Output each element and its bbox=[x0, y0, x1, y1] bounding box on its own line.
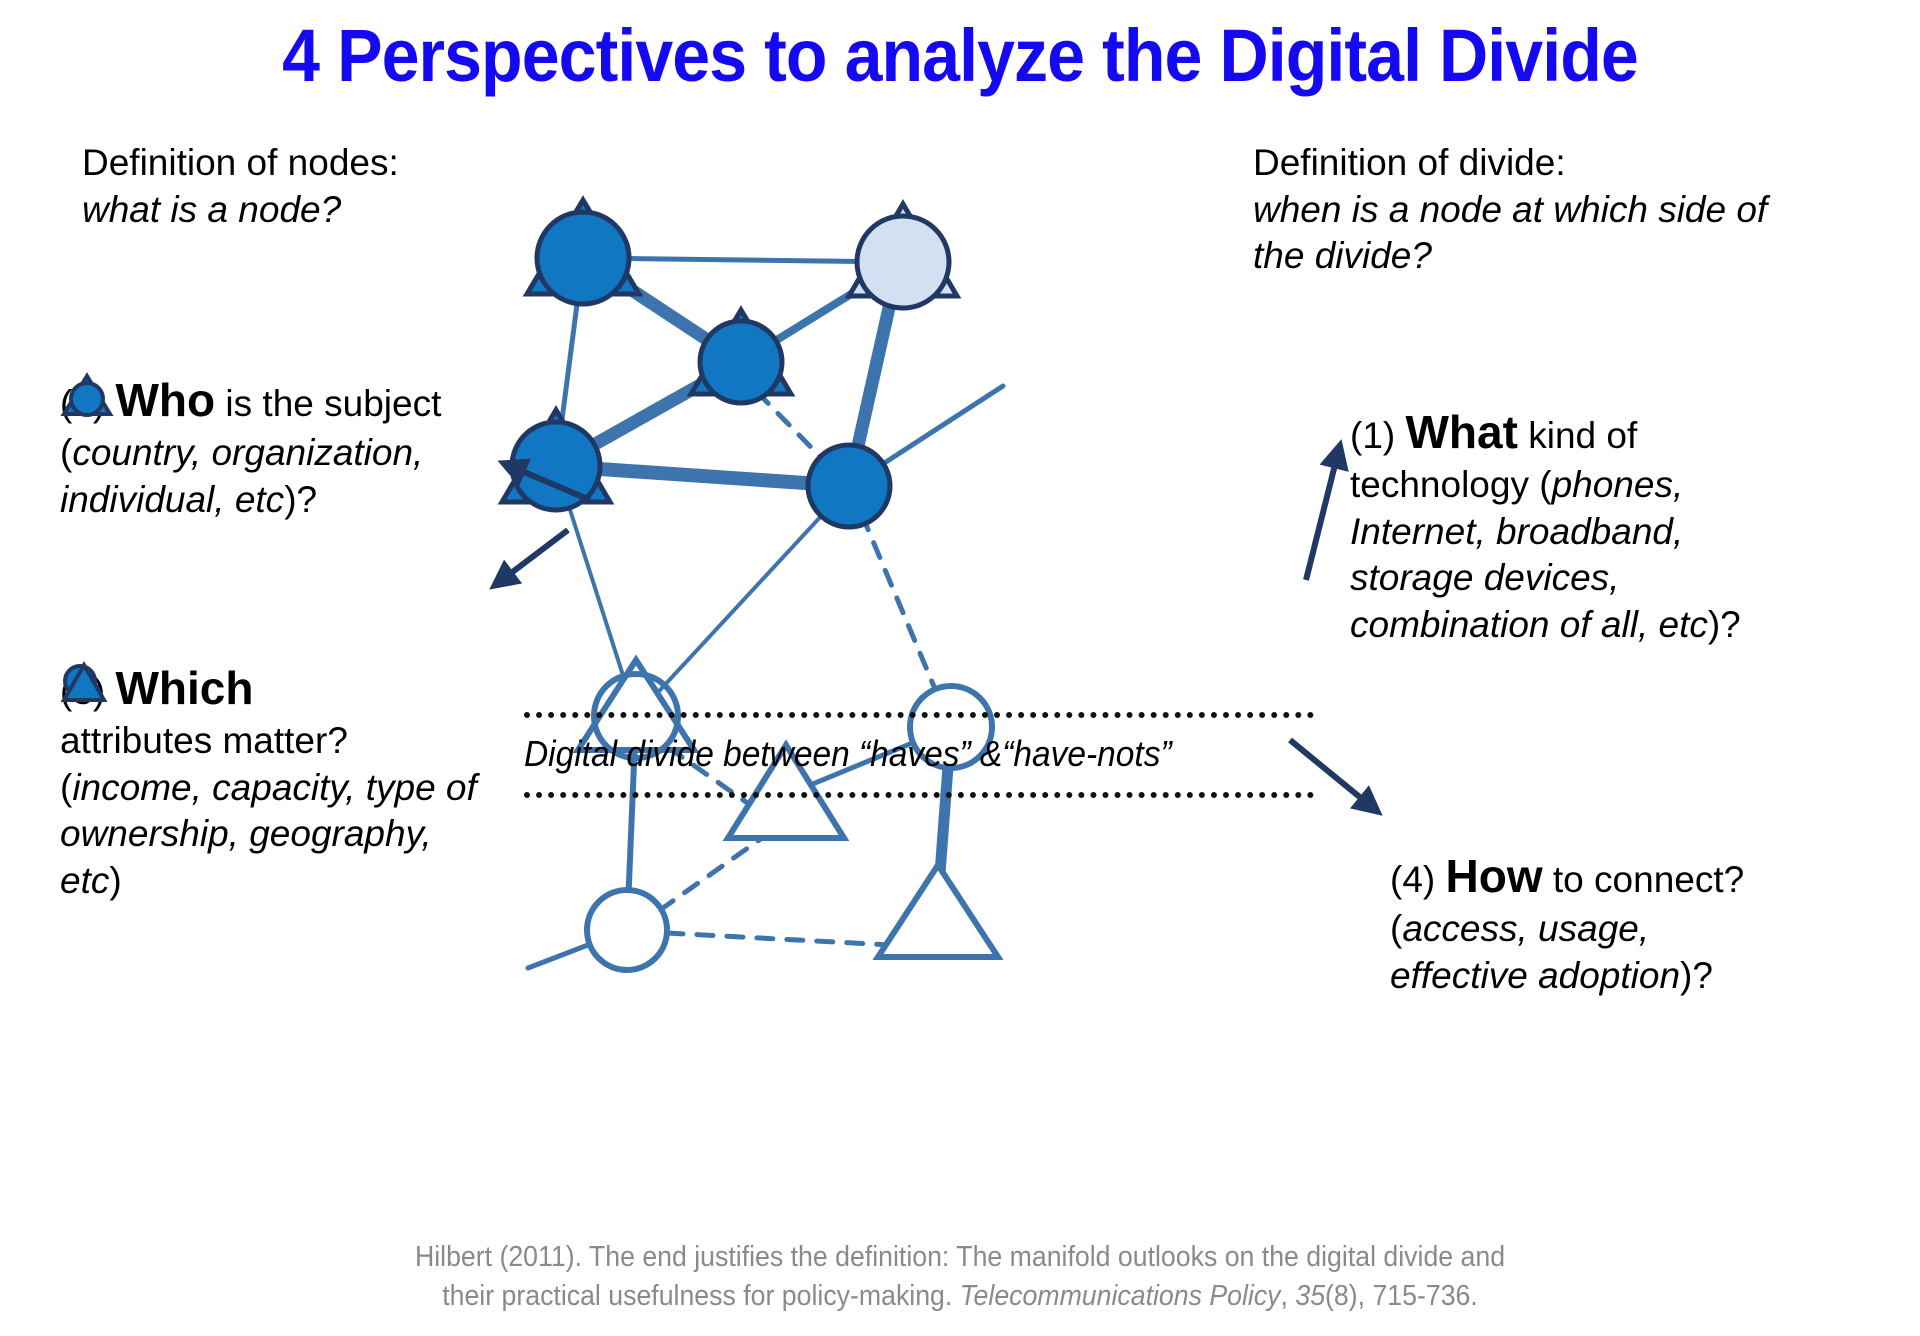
definition-of-divide-heading: Definition of divide: bbox=[1253, 140, 1773, 187]
perspective-2-text-b: )? bbox=[284, 479, 317, 520]
definition-of-nodes-question: what is a node? bbox=[82, 189, 341, 230]
node-n5 bbox=[808, 445, 890, 527]
definition-of-divide-block: Definition of divide: when is a node at … bbox=[1253, 140, 1773, 280]
divide-label: Digital divide between “haves” &“have-no… bbox=[524, 722, 1259, 786]
perspective-3-which: (3) Which attributes matter? (income, ca… bbox=[60, 660, 480, 904]
edge-n10-n9-dashed bbox=[667, 933, 890, 945]
perspective-2-text-italic: country, organization, individual, etc bbox=[60, 432, 423, 520]
arrow-to-which bbox=[494, 530, 568, 586]
node-n2 bbox=[849, 204, 957, 308]
perspective-4-text-italic: access, usage, effective adoption bbox=[1390, 908, 1680, 996]
edge-n5-n6 bbox=[636, 486, 849, 716]
perspective-4-how: (4) How to connect? (access, usage, effe… bbox=[1390, 848, 1790, 999]
node-n4 bbox=[502, 410, 610, 510]
perspective-2-who: (2) Who is the subject (country, organiz… bbox=[60, 372, 480, 523]
node-n9 bbox=[878, 865, 998, 957]
citation-line-2-a: their practical usefulness for policy-ma… bbox=[442, 1280, 960, 1312]
arrow-to-what bbox=[1306, 445, 1340, 580]
perspective-4-text-b: )? bbox=[1680, 955, 1713, 996]
citation-line-2-c: (8), 715-736. bbox=[1325, 1280, 1478, 1312]
node-n3 bbox=[691, 310, 791, 403]
digital-divide-band: Digital divide between “haves” &“have-no… bbox=[524, 712, 1314, 798]
citation-sep: , bbox=[1281, 1280, 1296, 1312]
edge-n10-n8-dashed bbox=[660, 838, 762, 910]
divide-dotted-line-bottom bbox=[524, 792, 1314, 798]
perspective-3-keyword: Which bbox=[116, 662, 254, 714]
citation-line-1: Hilbert (2011). The end justifies the de… bbox=[415, 1241, 1505, 1273]
node-n1 bbox=[527, 200, 639, 304]
divide-dotted-line-top bbox=[524, 712, 1314, 718]
node-n10 bbox=[587, 890, 667, 970]
slide: 4 Perspectives to analyze the Digital Di… bbox=[0, 0, 1920, 1336]
perspective-4-number: (4) bbox=[1390, 859, 1435, 900]
perspective-4-keyword: How bbox=[1446, 850, 1543, 902]
perspective-3-text-b: ) bbox=[109, 860, 121, 901]
perspective-1-what: (1) What kind of technology (phones, Int… bbox=[1350, 404, 1770, 648]
perspective-1-number: (1) bbox=[1350, 415, 1395, 456]
definition-of-nodes-block: Definition of nodes: what is a node? bbox=[82, 140, 512, 233]
definition-of-nodes-heading: Definition of nodes: bbox=[82, 140, 512, 187]
citation-journal: Telecommunications Policy bbox=[960, 1280, 1281, 1312]
citation-footer: Hilbert (2011). The end justifies the de… bbox=[224, 1238, 1696, 1315]
perspective-3-text-italic: income, capacity, type of ownership, geo… bbox=[60, 767, 477, 901]
perspective-1-text-b: )? bbox=[1708, 604, 1741, 645]
perspective-1-keyword: What bbox=[1406, 406, 1518, 458]
citation-volume: 35 bbox=[1295, 1280, 1325, 1312]
definition-of-divide-question: when is a node at which side of the divi… bbox=[1253, 189, 1767, 277]
perspective-2-keyword: Who bbox=[116, 374, 216, 426]
